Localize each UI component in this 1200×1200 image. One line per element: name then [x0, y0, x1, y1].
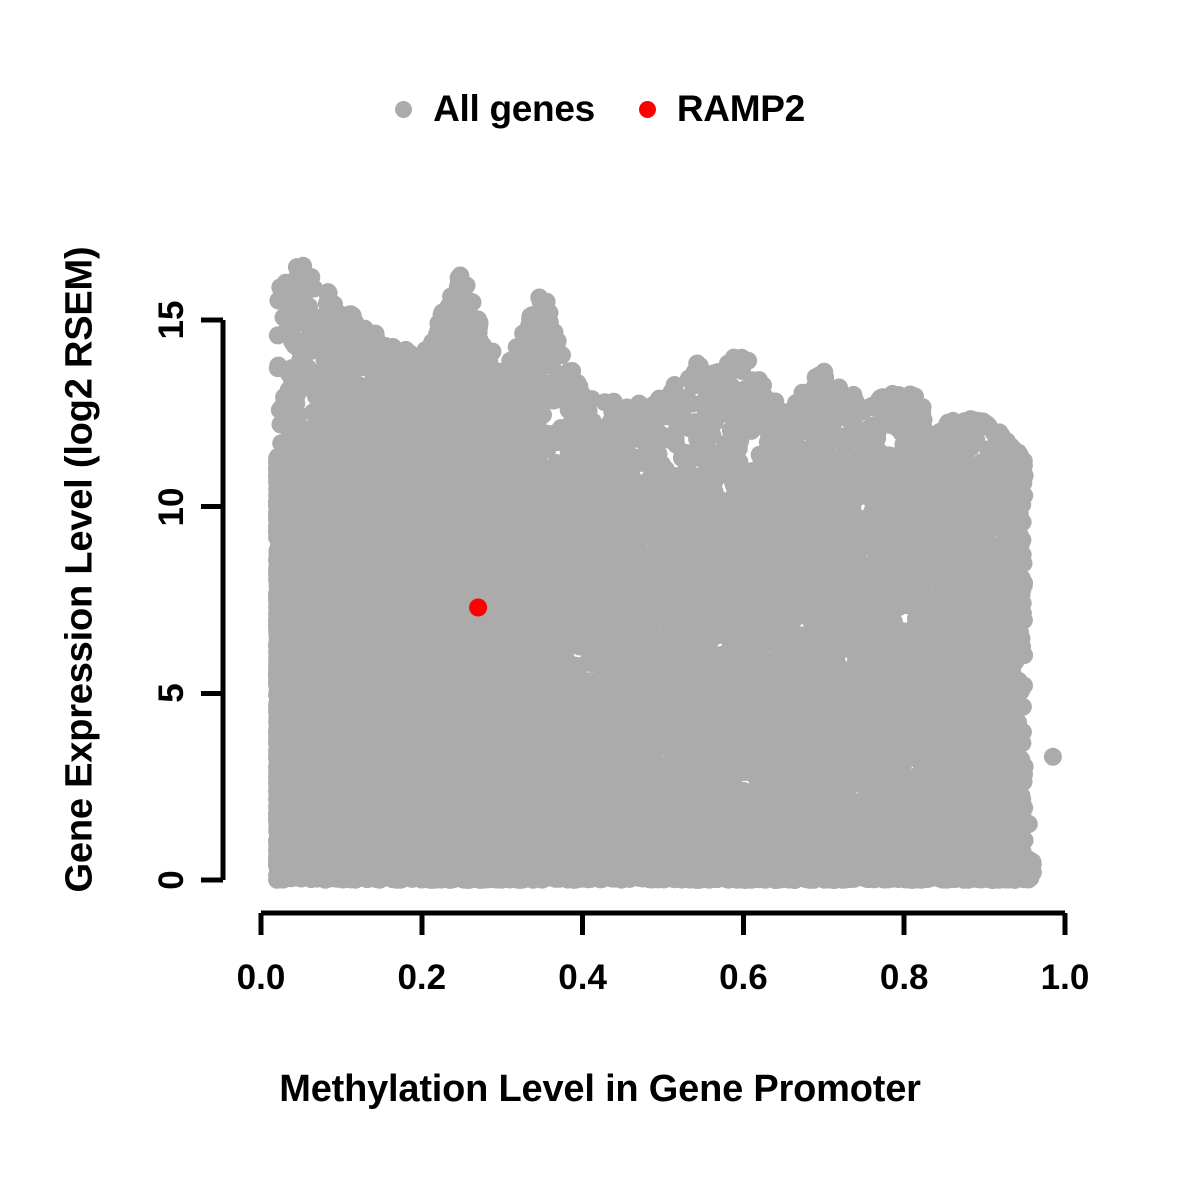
x-tick-label: 0.4	[558, 958, 607, 998]
scatter-plot-figure	[0, 0, 1200, 1200]
x-tick-label: 1.0	[1041, 958, 1090, 998]
y-tick-label: 10	[152, 487, 192, 526]
y-tick-label: 0	[152, 870, 192, 889]
y-axis-title: Gene Expression Level (log2 RSEM)	[59, 70, 102, 1070]
x-axis-title: Methylation Level in Gene Promoter	[0, 1068, 1200, 1111]
y-tick-label: 5	[152, 684, 192, 703]
x-tick-label: 0.0	[237, 958, 286, 998]
x-tick-label: 0.6	[719, 958, 768, 998]
x-tick-label: 0.8	[880, 958, 929, 998]
y-tick-label: 15	[152, 301, 192, 340]
ramp2-scatter-point	[469, 599, 487, 617]
x-tick-label: 0.2	[397, 958, 446, 998]
